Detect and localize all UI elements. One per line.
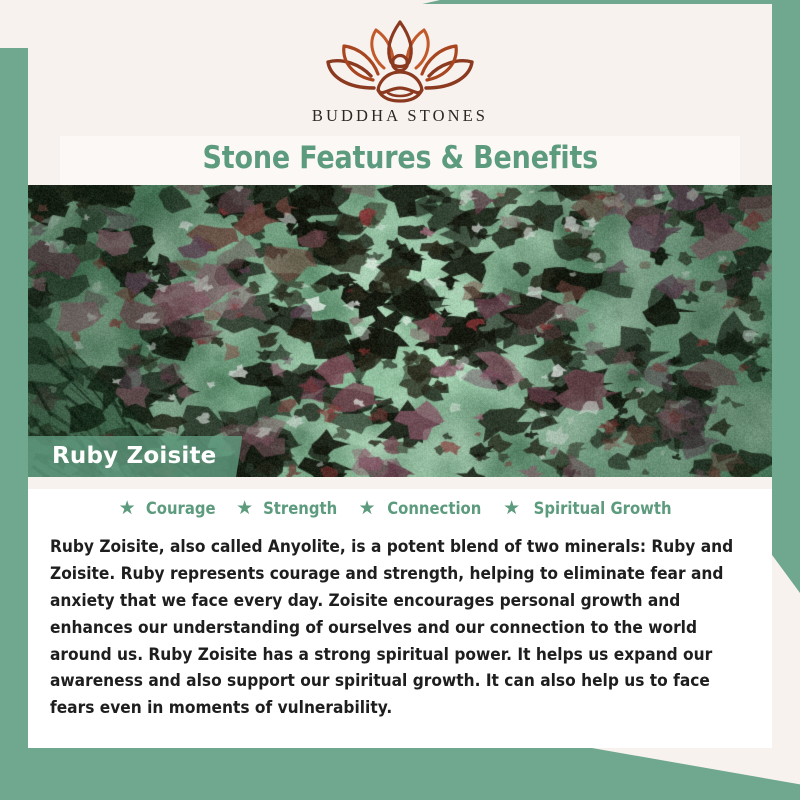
stone-name-banner: Ruby Zoisite	[28, 436, 242, 477]
feature-list: ★Courage★Strength★Connection★Spiritual G…	[50, 499, 748, 518]
stone-description-text: Ruby Zoisite, also called Anyolite, is a…	[50, 534, 745, 722]
brand-name: BUDDHA STONES	[28, 106, 772, 126]
brand-header: BUDDHA STONES	[28, 4, 772, 126]
feature-label: Strength	[263, 499, 337, 518]
ruby-zoisite-texture	[28, 185, 772, 477]
page-title: Stone Features & Benefits	[202, 140, 598, 176]
panel-top-cap	[28, 477, 772, 489]
feature-item: ★Spiritual Growth	[503, 499, 679, 518]
star-icon: ★	[119, 499, 136, 518]
stone-hero-image: Ruby Zoisite	[28, 185, 772, 477]
feature-label: Courage	[146, 499, 216, 518]
frame-right-accent	[772, 48, 800, 593]
feature-item: ★Strength	[236, 499, 341, 518]
feature-item: ★Courage	[119, 499, 220, 518]
stone-description-panel: ★Courage★Strength★Connection★Spiritual G…	[28, 477, 772, 748]
star-icon: ★	[359, 499, 376, 518]
lotus-meditation-logo-icon	[316, 18, 484, 104]
feature-item: ★Connection	[359, 499, 487, 518]
star-icon: ★	[236, 499, 253, 518]
section-title-band: Stone Features & Benefits	[60, 136, 740, 185]
info-card: BUDDHA STONES Stone Features & Benefits …	[28, 4, 772, 748]
feature-label: Spiritual Growth	[534, 499, 672, 518]
stone-name: Ruby Zoisite	[52, 443, 216, 469]
star-icon: ★	[503, 499, 520, 518]
feature-label: Connection	[387, 499, 481, 518]
frame-left-accent	[0, 48, 28, 800]
